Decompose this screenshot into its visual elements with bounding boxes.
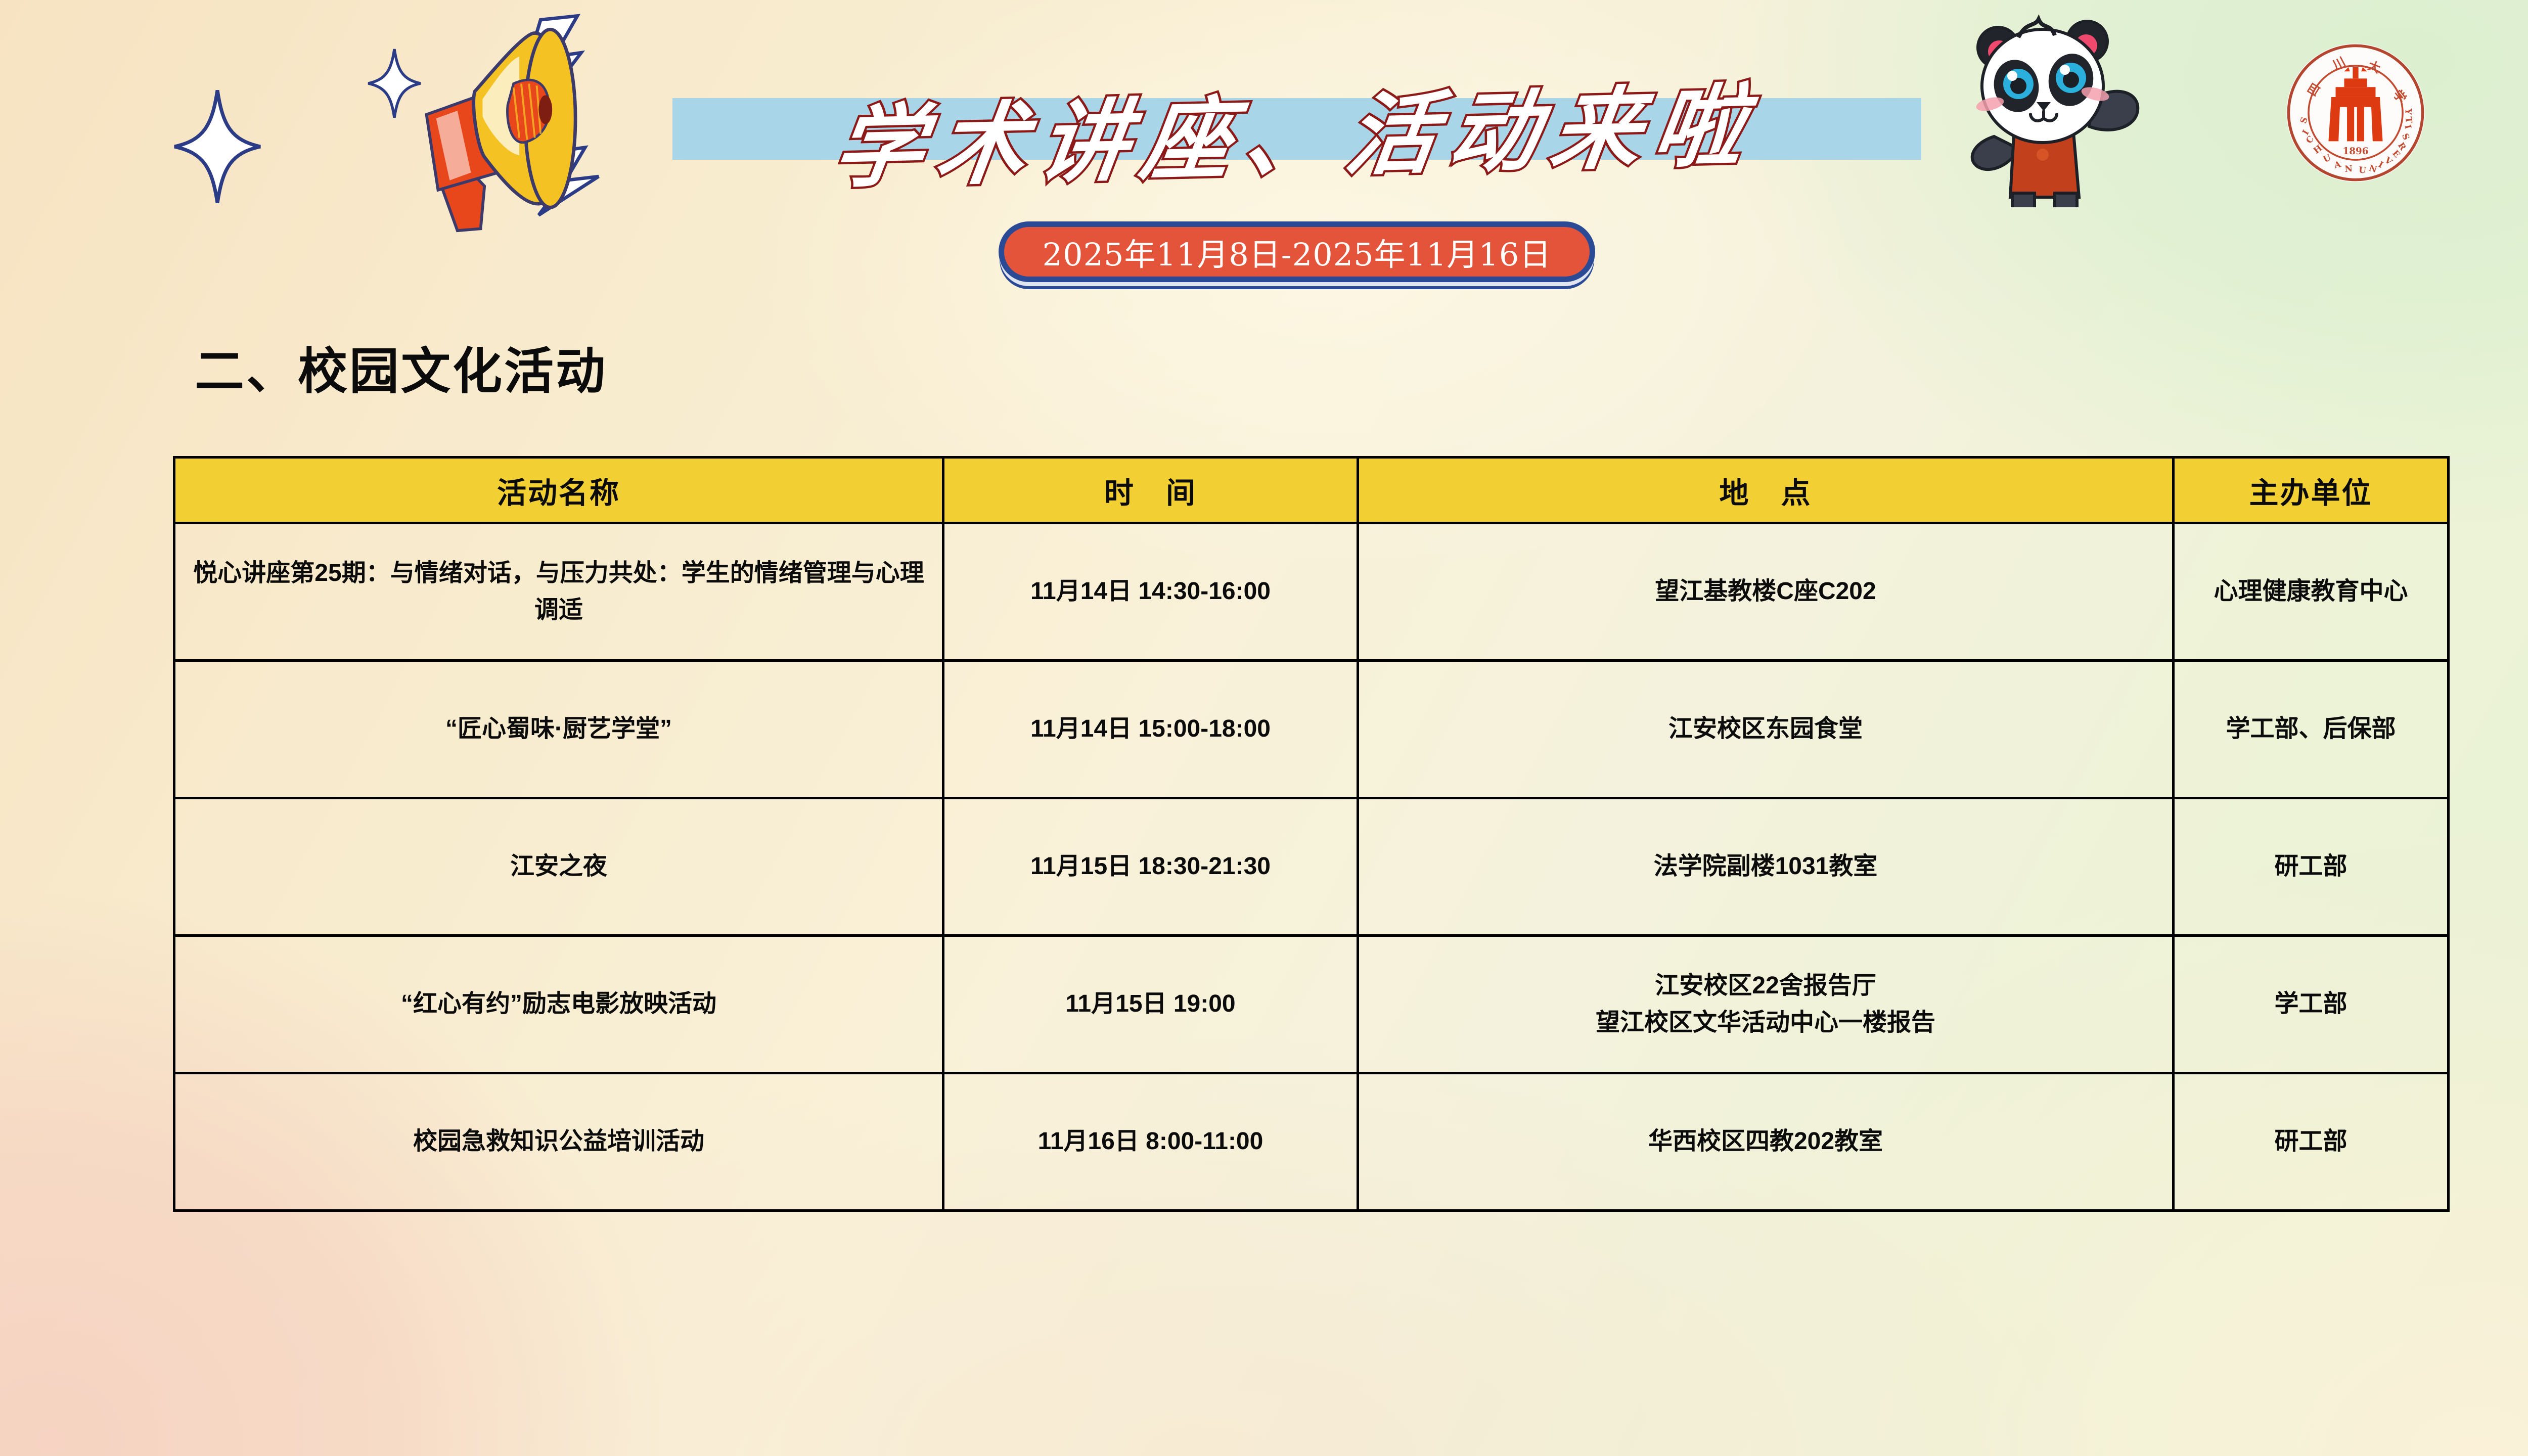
cell-time: 11月14日 14:30-16:00 (943, 523, 1358, 661)
cell-line: 华西校区四教202教室 (1372, 1123, 2159, 1160)
cell-location: 华西校区四教202教室 (1358, 1073, 2174, 1211)
cell-line: 望江校区文华活动中心一楼报告 (1372, 1005, 2159, 1041)
cell-time: 11月15日 19:00 (943, 936, 1358, 1073)
cell-organizer: 心理健康教育中心 (2174, 523, 2449, 661)
poster-title-area: 学术讲座、活动来啦 (672, 71, 1947, 187)
cell-activity-name: “红心有约”励志电影放映活动 (174, 936, 943, 1073)
sparkle-large-icon (172, 88, 263, 205)
cell-organizer: 研工部 (2174, 798, 2449, 936)
cell-time: 11月14日 15:00-18:00 (943, 661, 1358, 798)
table-row: 江安之夜11月15日 18:30-21:30法学院副楼1031教室研工部 (174, 798, 2449, 936)
cell-activity-name: “匠心蜀味·厨艺学堂” (174, 661, 943, 798)
table-row: “匠心蜀味·厨艺学堂”11月14日 15:00-18:00江安校区东园食堂学工部… (174, 661, 2449, 798)
cell-line: 法学院副楼1031教室 (1372, 848, 2159, 885)
cell-location: 法学院副楼1031教室 (1358, 798, 2174, 936)
svg-text:U: U (2358, 165, 2367, 175)
scu-logo-icon: 1896 四 川 大 学 S I C H U A N U N I V E R S… (2284, 41, 2427, 184)
scu-logo-year: 1896 (2342, 146, 2368, 157)
cell-organizer: 研工部 (2174, 1073, 2449, 1211)
cell-time: 11月16日 8:00-11:00 (943, 1073, 1358, 1211)
svg-text:T: T (2404, 116, 2414, 124)
column-header-time: 时 间 (943, 458, 1358, 523)
megaphone-icon (283, 10, 647, 233)
header-decoration-area: 1896 四 川 大 学 S I C H U A N U N I V E R S… (0, 0, 2528, 313)
panda-mascot-icon (1936, 5, 2149, 207)
cell-time: 11月15日 18:30-21:30 (943, 798, 1358, 936)
section-heading: 二、校园文化活动 (195, 331, 607, 403)
date-range-badge: 2025年11月8日-2025年11月16日 (999, 221, 1595, 282)
cell-line: 江安校区东园食堂 (1372, 711, 2159, 748)
cell-line: 望江基教楼C座C202 (1372, 573, 2159, 610)
table-row: 悦心讲座第25期：与情绪对话，与压力共处：学生的情绪管理与心理调适11月14日 … (174, 523, 2449, 661)
cell-organizer: 学工部 (2174, 936, 2449, 1073)
cell-organizer: 学工部、后保部 (2174, 661, 2449, 798)
table-row: “红心有约”励志电影放映活动11月15日 19:00江安校区22舍报告厅望江校区… (174, 936, 2449, 1073)
column-header-activity-name: 活动名称 (174, 458, 943, 523)
svg-text:N: N (2344, 163, 2353, 174)
cell-location: 望江基教楼C座C202 (1358, 523, 2174, 661)
table-row: 校园急救知识公益培训活动11月16日 8:00-11:00华西校区四教202教室… (174, 1073, 2449, 1211)
date-range-text: 2025年11月8日-2025年11月16日 (1043, 229, 1552, 275)
svg-text:Y: Y (2403, 108, 2413, 115)
cell-activity-name: 校园急救知识公益培训活动 (174, 1073, 943, 1211)
cell-location: 江安校区22舍报告厅望江校区文华活动中心一楼报告 (1358, 936, 2174, 1073)
cell-activity-name: 悦心讲座第25期：与情绪对话，与压力共处：学生的情绪管理与心理调适 (174, 523, 943, 661)
column-header-organizer: 主办单位 (2174, 458, 2449, 523)
poster-title: 学术讲座、活动来啦 (662, 56, 1931, 202)
cell-activity-name: 江安之夜 (174, 798, 943, 936)
cell-location: 江安校区东园食堂 (1358, 661, 2174, 798)
column-header-location: 地 点 (1358, 458, 2174, 523)
schedule-table: 活动名称 时 间 地 点 主办单位 悦心讲座第25期：与情绪对话，与压力共处：学… (173, 456, 2450, 1212)
cell-line: 江安校区22舍报告厅 (1372, 968, 2159, 1005)
table-header-row: 活动名称 时 间 地 点 主办单位 (174, 458, 2449, 523)
